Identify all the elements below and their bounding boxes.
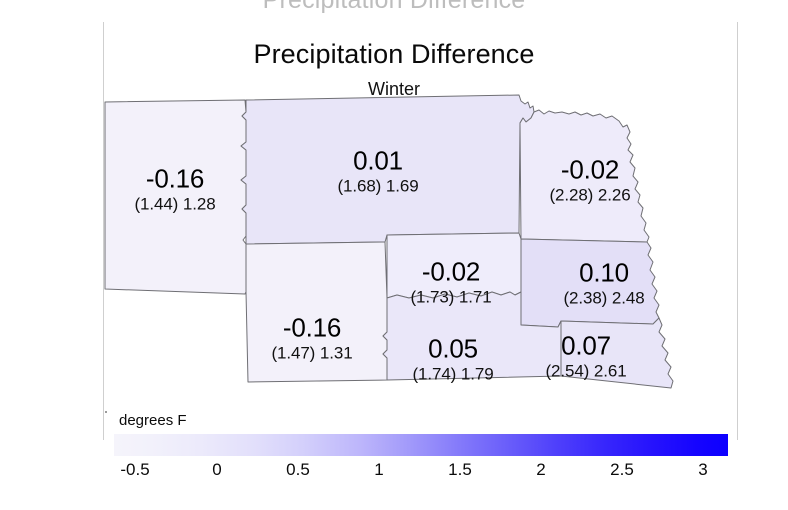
colorbar-corner-mark bbox=[105, 411, 107, 413]
colorbar-tick-7: 3 bbox=[698, 460, 707, 480]
clipped-title-text: Precipitation Difference bbox=[0, 0, 788, 20]
region-east-central[interactable] bbox=[521, 239, 659, 327]
colorbar-label: degrees F bbox=[119, 412, 187, 429]
region-central[interactable] bbox=[387, 233, 521, 298]
colorbar-gradient[interactable] bbox=[114, 434, 728, 456]
colorbar-tick-4: 1.5 bbox=[448, 460, 472, 480]
colorbar-tick-3: 1 bbox=[374, 460, 383, 480]
region-northeast[interactable] bbox=[520, 110, 649, 242]
colorbar-tick-5: 2 bbox=[536, 460, 545, 480]
figure-canvas: Precipitation Difference Precipitation D… bbox=[0, 0, 788, 510]
colorbar-tick-1: 0 bbox=[212, 460, 221, 480]
colorbar-tick-2: 0.5 bbox=[286, 460, 310, 480]
region-southeast[interactable] bbox=[561, 318, 673, 388]
region-southwest[interactable] bbox=[246, 242, 387, 382]
map-svg bbox=[103, 92, 737, 397]
page-title: Precipitation Difference bbox=[0, 39, 788, 70]
colorbar-tick-6: 2.5 bbox=[610, 460, 634, 480]
region-north-central[interactable] bbox=[241, 95, 534, 244]
region-panhandle[interactable] bbox=[105, 100, 246, 294]
choropleth-map: -0.16 (1.44) 1.28 0.01 (1.68) 1.69 -0.02… bbox=[103, 92, 737, 397]
colorbar-tick-0: -0.5 bbox=[120, 460, 149, 480]
